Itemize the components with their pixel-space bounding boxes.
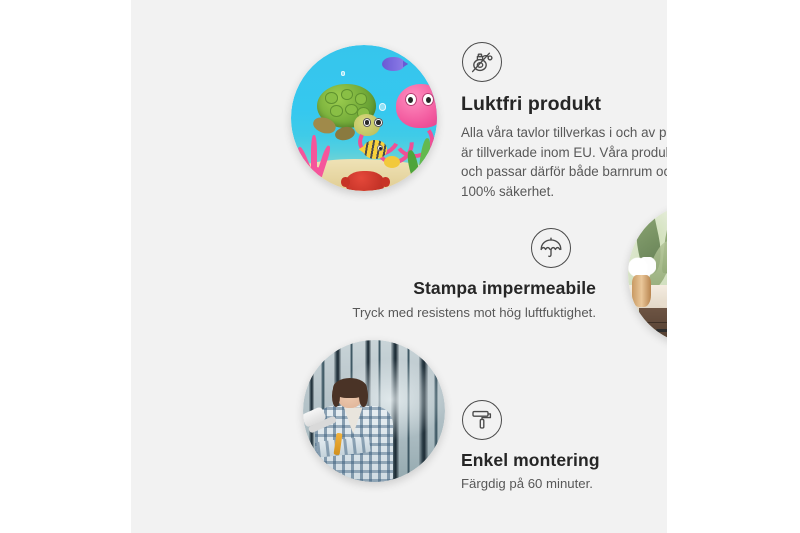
feature-block-waterproof: Stampa impermeabile Tryck med resistens … <box>291 228 596 322</box>
no-smell-icon <box>462 42 502 82</box>
feature-heading: Stampa impermeabile <box>291 277 596 299</box>
feature-heading: Enkel montering <box>461 449 667 471</box>
content-panel: Luktfri produkt Alla våra tavlor tillver… <box>131 0 667 533</box>
soap-dish <box>659 300 667 307</box>
feature-image-underwater <box>291 45 437 191</box>
feature-body: Alla våra tavlor tillverkas i och av pro… <box>461 123 667 201</box>
bubble-icon <box>379 103 386 110</box>
product-feature-infographic: Luktfri produkt Alla våra tavlor tillver… <box>0 0 800 533</box>
vase <box>632 275 650 306</box>
crab-icon <box>346 171 384 191</box>
feature-body: Tryck med resistens mot hög luftfuktighe… <box>291 304 596 322</box>
bubble-icon <box>341 71 345 75</box>
umbrella-icon <box>531 228 571 268</box>
feature-block-easy-mounting: Enkel montering Färgdig på 60 minuter. <box>461 400 667 493</box>
forest-wallpaper-photo <box>303 340 445 482</box>
feature-heading: Luktfri produkt <box>461 92 667 116</box>
octopus-eye <box>405 93 417 106</box>
feature-image-bathroom <box>628 203 667 345</box>
feature-image-forest <box>303 340 445 482</box>
pink-coral <box>300 133 347 177</box>
bathroom-photo <box>628 203 667 345</box>
woman-with-roller <box>312 380 397 482</box>
blue-fish-icon <box>382 57 405 72</box>
feature-body: Färgdig på 60 minuter. <box>461 475 667 493</box>
hair <box>359 385 368 407</box>
underwater-illustration <box>291 45 437 191</box>
striped-fish-icon <box>363 140 388 159</box>
paint-roller-icon-wrapper <box>461 400 667 440</box>
paint-roller-icon <box>462 400 502 440</box>
umbrella-icon-wrapper <box>291 228 596 268</box>
vanity-cabinet <box>639 308 667 345</box>
no-smell-icon-wrapper <box>461 42 667 82</box>
small-fish-icon <box>384 156 400 168</box>
feature-block-odour-free: Luktfri produkt Alla våra tavlor tillver… <box>461 42 667 201</box>
